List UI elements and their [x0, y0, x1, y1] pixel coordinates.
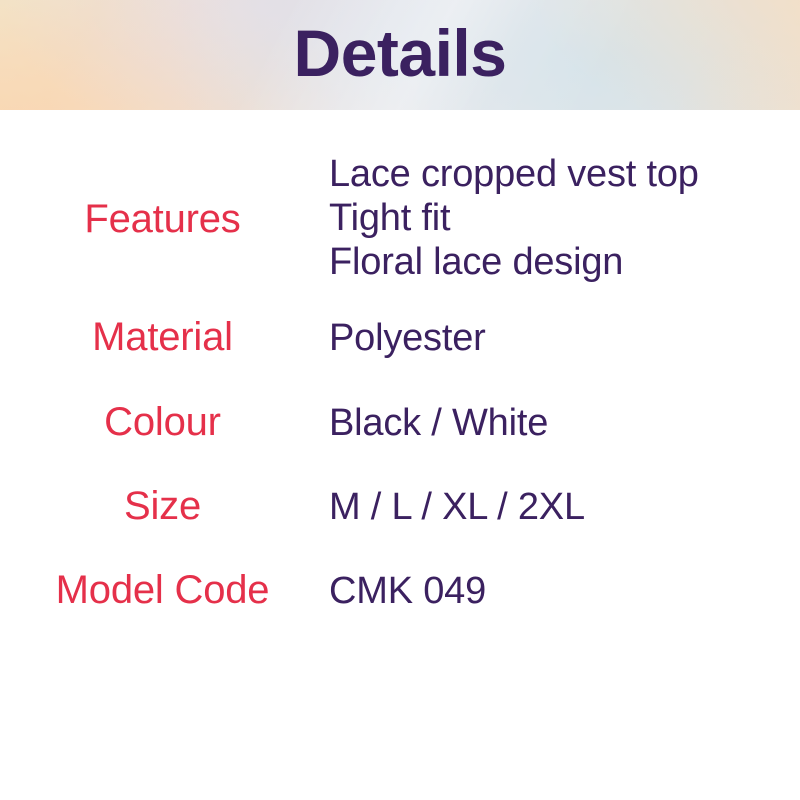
spec-value-features-line-1: Lace cropped vest top	[329, 152, 699, 196]
spec-label-colour: Colour	[104, 399, 221, 445]
spec-row-colour: Colour Black / White	[0, 399, 800, 445]
specification-table: Features Lace cropped vest top Tight fit…	[0, 110, 800, 614]
spec-label-cell-model-code: Model Code	[0, 567, 329, 613]
spec-label-cell-material: Material	[0, 314, 329, 360]
spec-row-features: Features Lace cropped vest top Tight fit…	[0, 152, 800, 284]
spec-label-cell-features: Features	[0, 152, 329, 242]
spec-label-model-code: Model Code	[56, 567, 270, 613]
spec-value-cell-material: Polyester	[329, 314, 800, 360]
spec-value-cell-model-code: CMK 049	[329, 567, 800, 613]
spec-value-cell-colour: Black / White	[329, 399, 800, 445]
page-title: Details	[0, 0, 800, 110]
spec-row-material: Material Polyester	[0, 314, 800, 360]
spec-value-colour: Black / White	[329, 401, 548, 445]
details-page: Details Features Lace cropped vest top T…	[0, 0, 800, 800]
spec-value-size: M / L / XL / 2XL	[329, 485, 585, 529]
spec-value-material: Polyester	[329, 316, 486, 360]
spec-label-features: Features	[84, 196, 240, 242]
spec-value-model-code: CMK 049	[329, 569, 486, 613]
header-banner: Details	[0, 0, 800, 110]
spec-value-cell-size: M / L / XL / 2XL	[329, 483, 800, 529]
spec-value-features-line-3: Floral lace design	[329, 240, 623, 284]
spec-label-cell-size: Size	[0, 483, 329, 529]
spec-value-features-line-2: Tight fit	[329, 196, 450, 240]
spec-value-cell-features: Lace cropped vest top Tight fit Floral l…	[329, 152, 800, 284]
spec-label-material: Material	[92, 314, 233, 360]
spec-row-size: Size M / L / XL / 2XL	[0, 483, 800, 529]
spec-label-cell-colour: Colour	[0, 399, 329, 445]
spec-label-size: Size	[124, 483, 201, 529]
spec-row-model-code: Model Code CMK 049	[0, 567, 800, 613]
